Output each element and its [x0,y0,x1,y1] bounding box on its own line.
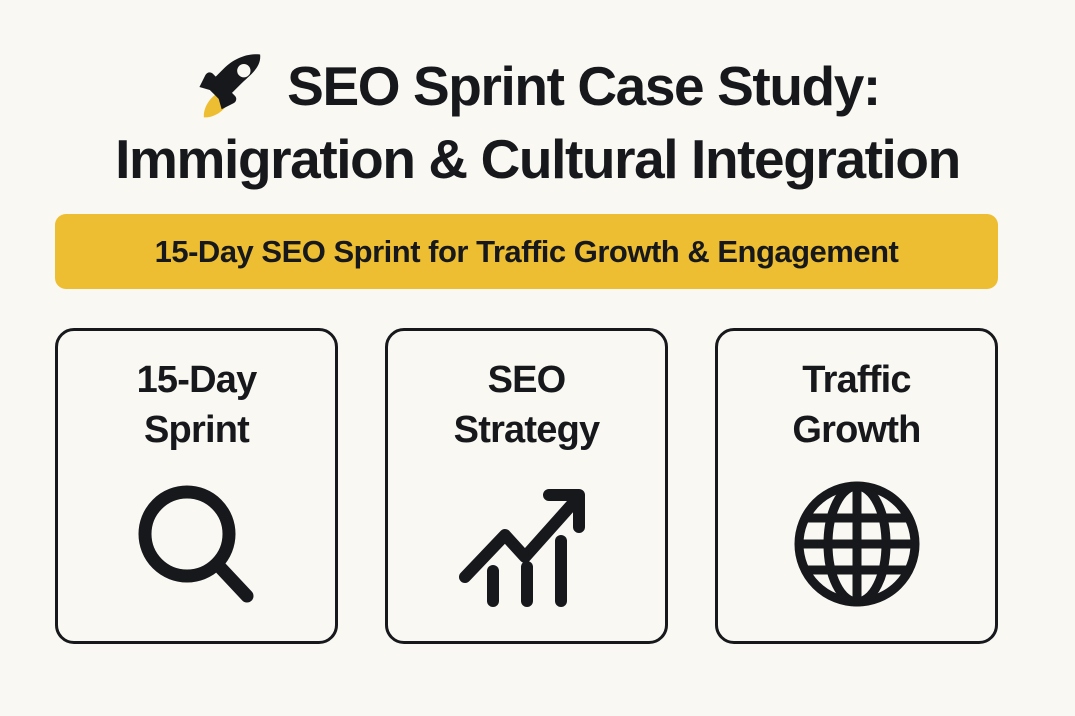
slide-canvas: SEO Sprint Case Study: Immigration & Cul… [0,0,1075,716]
feature-card-15-day-sprint[interactable]: 15-Day Sprint [55,328,338,644]
feature-card-traffic-growth[interactable]: Traffic Growth [715,328,998,644]
feature-card-seo-strategy[interactable]: SEO Strategy [385,328,668,644]
subtitle-banner-text: 15-Day SEO Sprint for Traffic Growth & E… [155,234,899,270]
feature-card-title: SEO Strategy [454,355,600,455]
title-text-line-2: Immigration & Cultural Integration [0,124,1075,194]
title-text-line-1: SEO Sprint Case Study: [287,51,880,121]
page-title: SEO Sprint Case Study: Immigration & Cul… [0,48,1075,194]
title-line-1-row: SEO Sprint Case Study: [0,48,1075,124]
feature-card-title: Traffic Growth [792,355,920,455]
search-icon [122,469,272,619]
growth-chart-icon [452,469,602,619]
feature-cards-row: 15-Day Sprint SEO Strategy [55,328,998,644]
feature-card-title: 15-Day Sprint [137,355,257,455]
rocket-icon [195,50,269,124]
globe-icon [782,469,932,619]
subtitle-banner: 15-Day SEO Sprint for Traffic Growth & E… [55,214,998,289]
